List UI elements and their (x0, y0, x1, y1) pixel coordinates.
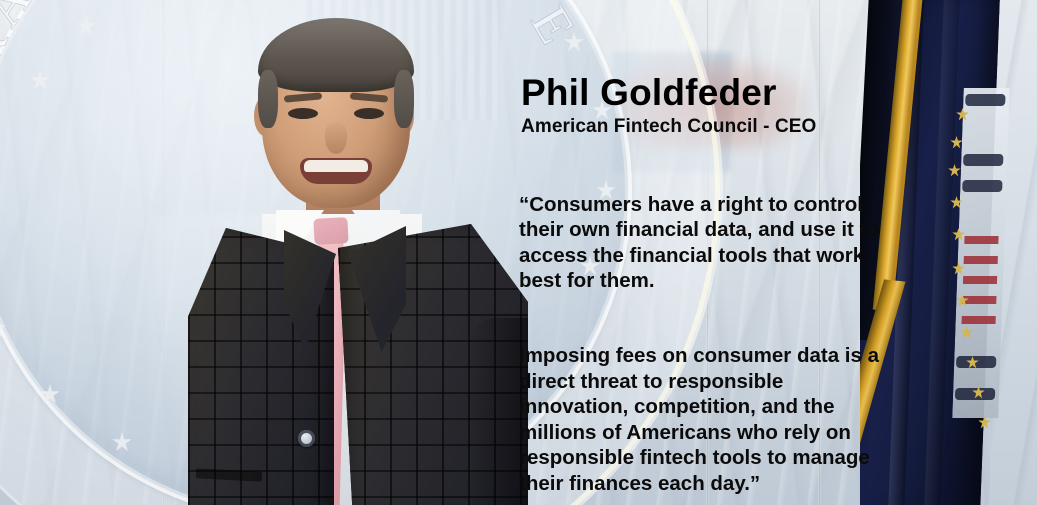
quote-paragraph-2: Imposing fees on consumer data is a dire… (519, 343, 889, 496)
speaker-name: Phil Goldfeder (521, 74, 777, 111)
quote-block: “Consumers have a right to control their… (519, 166, 889, 505)
quote-graphic: FEDERAL RESERVE (0, 0, 1037, 505)
speaker-role: American Fintech Council - CEO (521, 117, 816, 136)
quote-paragraph-1: “Consumers have a right to control their… (519, 192, 889, 294)
text-overlay: Phil Goldfeder American Fintech Council … (0, 0, 1037, 505)
